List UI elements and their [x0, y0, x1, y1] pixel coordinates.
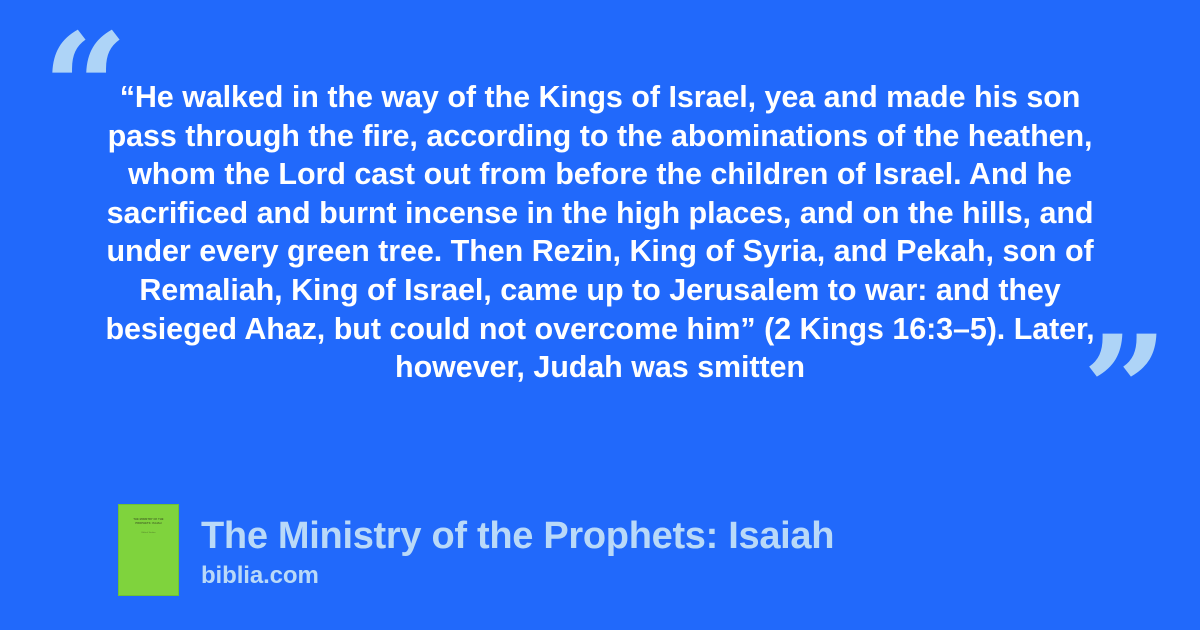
- footer-text-block: The Ministry of the Prophets: Isaiah bib…: [201, 504, 834, 590]
- book-title: The Ministry of the Prophets: Isaiah: [201, 514, 834, 558]
- site-name[interactable]: biblia.com: [201, 562, 834, 590]
- book-cover-subtitle: Biblical Studies: [127, 532, 170, 535]
- quote-text: “He walked in the way of the Kings of Is…: [100, 78, 1100, 387]
- quote-card: “ “He walked in the way of the Kings of …: [0, 0, 1200, 630]
- close-quote-icon: ”: [1082, 316, 1166, 466]
- book-cover-thumbnail[interactable]: The Ministry of the Prophets: Isaiah Bib…: [118, 504, 179, 596]
- book-cover-title: The Ministry of the Prophets: Isaiah: [125, 518, 172, 526]
- footer: The Ministry of the Prophets: Isaiah Bib…: [118, 504, 834, 596]
